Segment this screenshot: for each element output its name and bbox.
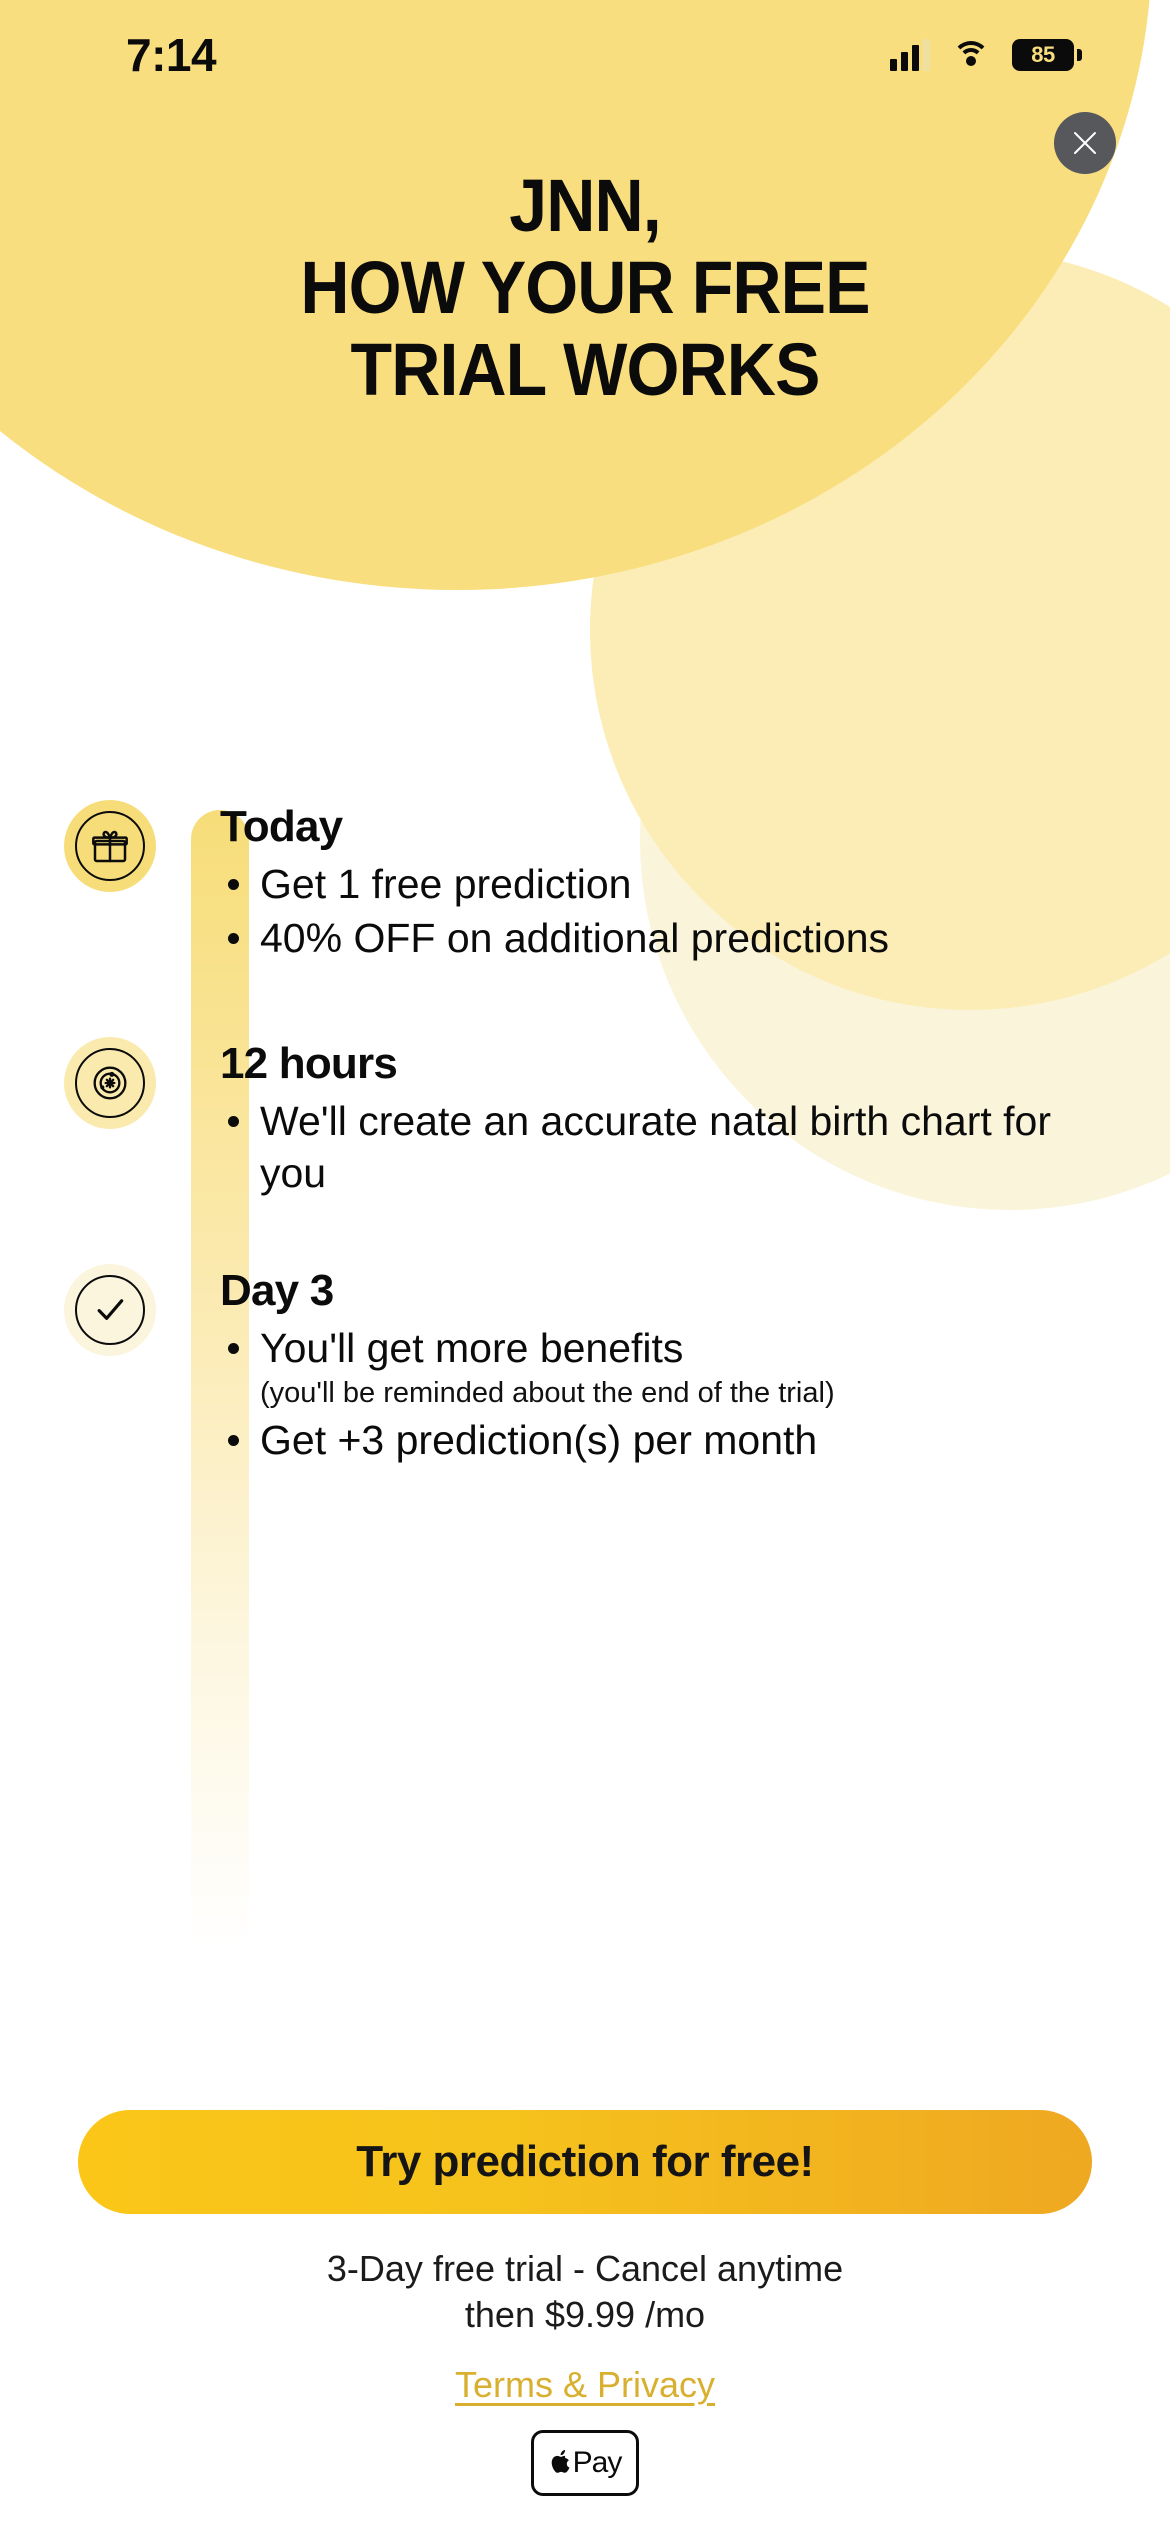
timeline-step-bullets: Get 1 free prediction 40% OFF on additio… xyxy=(220,858,1090,965)
list-item: 40% OFF on additional predictions xyxy=(220,912,1090,964)
timeline-step-body: Day 3 You'll get more benefits (you'll b… xyxy=(220,1264,1170,1468)
title-line-3: TRIAL WORKS xyxy=(47,329,1123,411)
timeline-step-body: Today Get 1 free prediction 40% OFF on a… xyxy=(220,800,1170,967)
footer: Try prediction for free! 3-Day free tria… xyxy=(0,2110,1170,2532)
battery-percent-label: 85 xyxy=(1031,42,1054,68)
trial-line-1: 3-Day free trial - Cancel anytime xyxy=(0,2246,1170,2292)
status-bar: 7:14 85 xyxy=(0,0,1170,110)
trial-terms-text: 3-Day free trial - Cancel anytime then $… xyxy=(0,2246,1170,2338)
title-line-2: HOW YOUR FREE xyxy=(47,247,1123,329)
timeline-badge-column xyxy=(0,1264,220,1468)
list-item: We'll create an accurate natal birth cha… xyxy=(220,1095,1090,1200)
timeline-step: Day 3 You'll get more benefits (you'll b… xyxy=(0,1264,1170,1468)
paywall-screen: 7:14 85 JNN, HOW YOUR FREE TRIAL WORKS xyxy=(0,0,1170,2532)
try-prediction-button[interactable]: Try prediction for free! xyxy=(78,2110,1092,2214)
timeline-step: 12 hours We'll create an accurate natal … xyxy=(0,1037,1170,1202)
badge-ring xyxy=(75,1275,145,1345)
badge-ring xyxy=(75,811,145,881)
bullet-note: (you'll be reminded about the end of the… xyxy=(260,1376,1090,1411)
check-circle-icon xyxy=(90,1290,130,1330)
title-line-1: JNN, xyxy=(47,165,1123,247)
bullet-text: Get +3 prediction(s) per month xyxy=(260,1417,817,1463)
status-bar-indicators: 85 xyxy=(890,39,1074,71)
timeline-step-title: 12 hours xyxy=(220,1039,1090,1089)
timeline-step-title: Today xyxy=(220,802,1090,852)
apple-logo-icon xyxy=(549,2450,571,2476)
list-item: You'll get more benefits (you'll be remi… xyxy=(220,1322,1090,1412)
cellular-signal-icon xyxy=(890,39,930,71)
apple-pay-label: Pay xyxy=(573,2446,622,2480)
timeline-step-bullets: You'll get more benefits (you'll be remi… xyxy=(220,1322,1090,1466)
timeline-step-title: Day 3 xyxy=(220,1266,1090,1316)
battery-icon: 85 xyxy=(1012,39,1074,71)
badge-ring xyxy=(75,1048,145,1118)
apple-pay-badge[interactable]: Pay xyxy=(531,2430,639,2496)
timeline-step-bullets: We'll create an accurate natal birth cha… xyxy=(220,1095,1090,1200)
page-title: JNN, HOW YOUR FREE TRIAL WORKS xyxy=(47,165,1123,411)
gift-icon xyxy=(90,826,130,866)
timeline-badge xyxy=(64,1037,156,1129)
timeline-badge xyxy=(64,800,156,892)
bullet-text: You'll get more benefits xyxy=(260,1325,683,1371)
trial-timeline: Today Get 1 free prediction 40% OFF on a… xyxy=(0,800,1170,1480)
timeline-badge-column xyxy=(0,800,220,967)
bullet-text: Get 1 free prediction xyxy=(260,861,631,907)
list-item: Get +3 prediction(s) per month xyxy=(220,1414,1090,1466)
timeline-badge xyxy=(64,1264,156,1356)
close-icon xyxy=(1070,128,1100,158)
timeline-step-body: 12 hours We'll create an accurate natal … xyxy=(220,1037,1170,1202)
bullet-text: We'll create an accurate natal birth cha… xyxy=(260,1098,1051,1196)
timeline-badge-column xyxy=(0,1037,220,1202)
trial-line-2: then $9.99 /mo xyxy=(0,2292,1170,2338)
orbit-star-icon xyxy=(90,1063,130,1103)
close-button[interactable] xyxy=(1054,112,1116,174)
timeline-step: Today Get 1 free prediction 40% OFF on a… xyxy=(0,800,1170,967)
wifi-icon xyxy=(952,41,990,69)
bullet-text: 40% OFF on additional predictions xyxy=(260,915,889,961)
terms-privacy-link[interactable]: Terms & Privacy xyxy=(455,2364,715,2406)
status-bar-time: 7:14 xyxy=(126,28,216,82)
list-item: Get 1 free prediction xyxy=(220,858,1090,910)
